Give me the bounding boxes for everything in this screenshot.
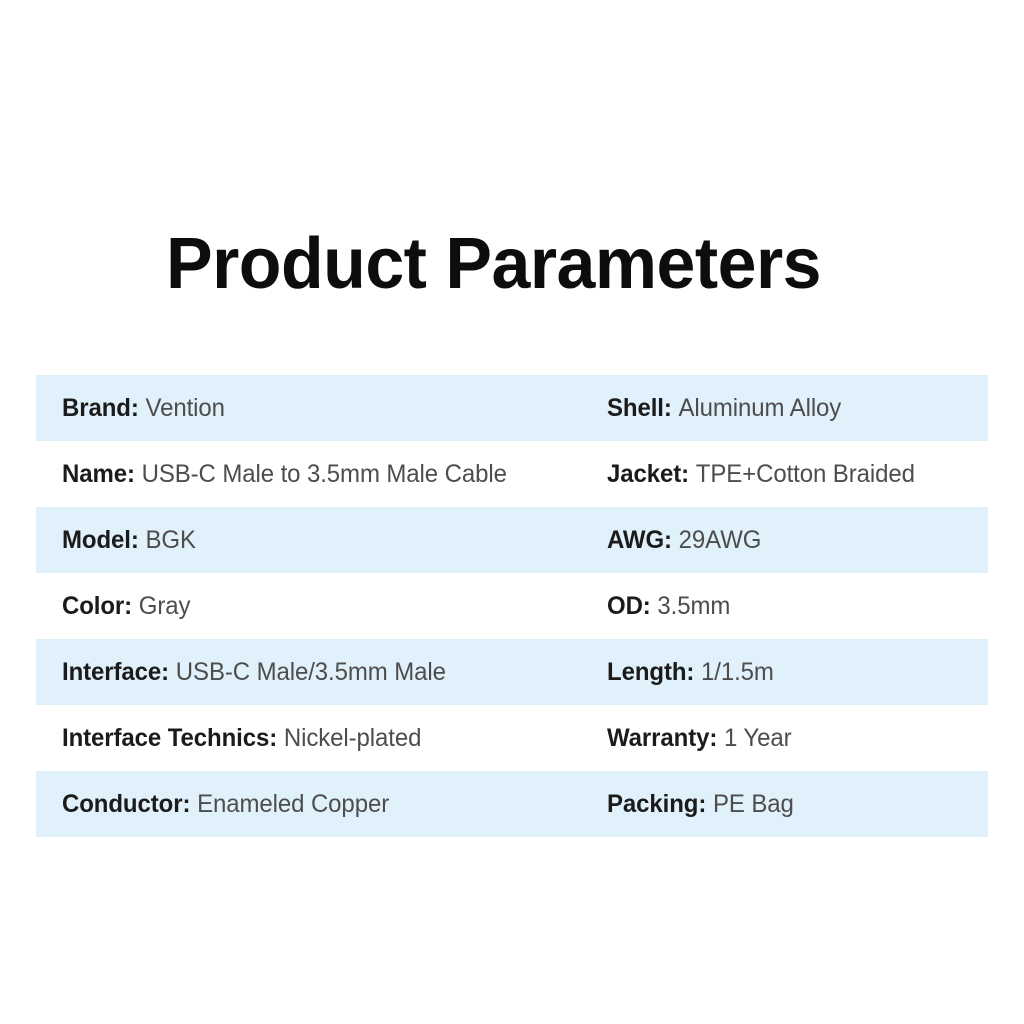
parameter-value: USB-C Male/3.5mm Male [176,658,446,687]
table-row: Name: USB-C Male to 3.5mm Male Cable Jac… [36,441,988,507]
parameter-label: Length: [607,658,694,687]
parameter-label: Shell: [607,394,672,423]
parameter-value: 29AWG [679,526,762,555]
parameter-label: Brand: [62,394,139,423]
parameter-cell-right: Warranty: 1 Year [607,724,791,753]
table-row: Conductor: Enameled Copper Packing: PE B… [36,771,988,837]
parameter-label: Interface Technics: [62,724,277,753]
parameter-value: Enameled Copper [197,790,389,819]
parameter-label: Name: [62,460,135,489]
table-row: Interface Technics: Nickel-plated Warran… [36,705,988,771]
parameter-cell-right: Jacket: TPE+Cotton Braided [607,460,915,489]
parameter-label: Interface: [62,658,169,687]
parameter-label: Color: [62,592,132,621]
parameter-cell-left: Color: Gray [62,592,190,621]
parameter-value: 1/1.5m [701,658,774,687]
parameter-label: Model: [62,526,139,555]
parameter-value: USB-C Male to 3.5mm Male Cable [142,460,507,489]
product-parameters-page: Product Parameters Brand: Vention Shell:… [0,0,1024,1024]
parameter-label: AWG: [607,526,672,555]
parameter-value: Gray [139,592,191,621]
parameter-cell-left: Name: USB-C Male to 3.5mm Male Cable [62,460,507,489]
parameter-value: 1 Year [724,724,792,753]
parameter-cell-right: Length: 1/1.5m [607,658,774,687]
parameter-cell-right: Packing: PE Bag [607,790,794,819]
parameter-cell-left: Interface Technics: Nickel-plated [62,724,421,753]
page-title: Product Parameters [166,222,884,306]
parameter-label: Jacket: [607,460,689,489]
parameter-cell-left: Model: BGK [62,526,196,555]
parameter-value: BGK [145,526,195,555]
parameter-value: TPE+Cotton Braided [696,460,915,489]
parameter-value: Aluminum Alloy [678,394,841,423]
parameters-table: Brand: Vention Shell: Aluminum Alloy Nam… [36,375,988,837]
parameter-label: Packing: [607,790,706,819]
parameter-label: Warranty: [607,724,717,753]
parameter-cell-left: Interface: USB-C Male/3.5mm Male [62,658,446,687]
table-row: Model: BGK AWG: 29AWG [36,507,988,573]
parameter-value: 3.5mm [657,592,730,621]
parameter-label: Conductor: [62,790,190,819]
parameter-value: Vention [145,394,224,423]
parameter-cell-left: Conductor: Enameled Copper [62,790,389,819]
parameter-cell-right: Shell: Aluminum Alloy [607,394,841,423]
table-row: Color: Gray OD: 3.5mm [36,573,988,639]
table-row: Interface: USB-C Male/3.5mm Male Length:… [36,639,988,705]
parameter-label: OD: [607,592,651,621]
parameter-value: Nickel-plated [284,724,421,753]
parameter-cell-right: OD: 3.5mm [607,592,730,621]
parameter-cell-right: AWG: 29AWG [607,526,761,555]
table-row: Brand: Vention Shell: Aluminum Alloy [36,375,988,441]
parameter-value: PE Bag [713,790,794,819]
parameter-cell-left: Brand: Vention [62,394,225,423]
